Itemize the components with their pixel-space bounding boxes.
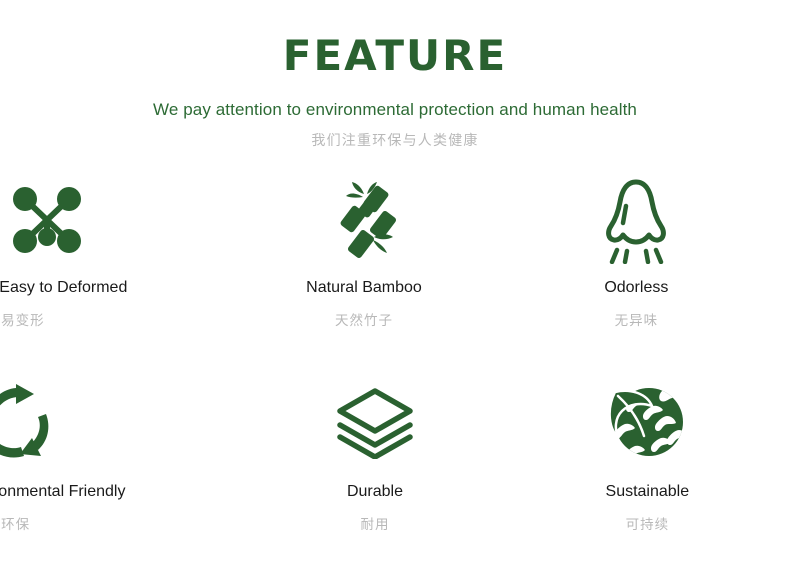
feature-item-durable: Durable 耐用 — [263, 372, 526, 572]
section-header: FEATURE We pay attention to environmenta… — [0, 0, 790, 150]
bamboo-icon — [325, 172, 401, 268]
recycle-icon — [0, 372, 58, 472]
feature-label-cn: 可持续 — [626, 513, 670, 533]
subtitle-chinese: 我们注重环保与人类健康 — [0, 130, 790, 150]
feature-label-cn: 无异味 — [615, 309, 659, 329]
feature-item-sustainable: Sustainable 可持续 — [527, 372, 790, 572]
feature-label-cn: 不易变形 — [0, 309, 45, 329]
feature-item-environmental-friendly: Environmental Friendly 环保 — [0, 372, 263, 572]
feature-section: FEATURE We pay attention to environmenta… — [0, 0, 790, 576]
feature-label-cn: 环保 — [1, 513, 30, 533]
feature-item-not-easy-to-deformed: Not Easy to Deformed 不易变形 — [0, 172, 263, 372]
feature-label-en: Natural Bamboo — [306, 278, 422, 297]
feature-label-en: Environmental Friendly — [0, 482, 125, 501]
feature-label-cn: 天然竹子 — [335, 309, 393, 329]
feature-label-en: Sustainable — [606, 482, 690, 501]
feature-item-odorless: Odorless 无异味 — [527, 172, 790, 372]
subtitle-english: We pay attention to environmental protec… — [0, 100, 790, 120]
feature-label-cn: 耐用 — [360, 513, 389, 533]
feature-grid: Not Easy to Deformed 不易变形 — [0, 172, 790, 572]
feature-item-natural-bamboo: Natural Bamboo 天然竹子 — [263, 172, 526, 372]
feature-label-en: Not Easy to Deformed — [0, 278, 127, 297]
nose-icon — [601, 172, 671, 268]
layers-stack-icon — [334, 372, 416, 472]
molecule-x-icon — [9, 172, 85, 268]
feature-label-en: Odorless — [604, 278, 668, 297]
globe-leaf-icon — [605, 372, 689, 472]
feature-label-en: Durable — [347, 482, 403, 501]
page-title: FEATURE — [0, 34, 790, 78]
